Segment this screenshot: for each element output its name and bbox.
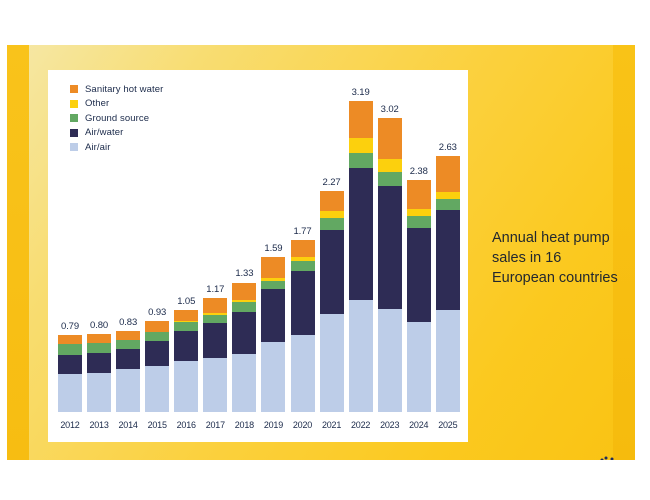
bar-segment[interactable] — [145, 321, 169, 332]
screenshot-root: Sanitary hot waterOtherGround sourceAir/… — [0, 0, 650, 500]
x-axis-tick-label: 2021 — [320, 420, 344, 430]
bar-stack — [232, 282, 256, 412]
x-axis-tick-label: 2022 — [349, 420, 373, 430]
bar-segment[interactable] — [378, 186, 402, 309]
bar-value-label: 1.17 — [206, 284, 224, 295]
bar-segment[interactable] — [203, 298, 227, 313]
bar-segment[interactable] — [320, 218, 344, 230]
bar-value-label: 0.93 — [148, 307, 166, 318]
bar-segment[interactable] — [87, 334, 111, 343]
bar-column[interactable]: 3.19 — [349, 76, 373, 412]
x-axis-tick-labels: 2012201320142015201620172018201920202021… — [58, 416, 460, 434]
bar-column[interactable]: 0.83 — [116, 76, 140, 412]
bar-value-label: 2.38 — [410, 166, 428, 177]
bar-segment[interactable] — [407, 322, 431, 412]
bar-stack — [261, 257, 285, 412]
bar-segment[interactable] — [320, 191, 344, 211]
bar-segment[interactable] — [87, 373, 111, 412]
bar-segment[interactable] — [58, 344, 82, 355]
bar-segment[interactable] — [436, 310, 460, 412]
bar-segment[interactable] — [145, 366, 169, 412]
bar-column[interactable]: 1.77 — [291, 76, 315, 412]
bar-column[interactable]: 0.80 — [87, 76, 111, 412]
bar-stack — [291, 240, 315, 412]
bar-segment[interactable] — [261, 289, 285, 342]
bar-segment[interactable] — [145, 332, 169, 341]
slide-left-edge — [7, 45, 29, 460]
bar-segment[interactable] — [436, 199, 460, 211]
bar-segment[interactable] — [320, 314, 344, 412]
bar-segment[interactable] — [261, 342, 285, 412]
bar-segment[interactable] — [174, 322, 198, 331]
bar-column[interactable]: 2.63 — [436, 76, 460, 412]
bar-stack — [87, 334, 111, 412]
bar-value-label: 1.33 — [235, 268, 253, 279]
bar-segment[interactable] — [58, 335, 82, 344]
bar-segment[interactable] — [116, 331, 140, 340]
bar-segment[interactable] — [58, 355, 82, 374]
bar-segment[interactable] — [436, 156, 460, 192]
x-axis-tick-label: 2018 — [232, 420, 256, 430]
chart-panel: Sanitary hot waterOtherGround sourceAir/… — [48, 70, 468, 442]
x-axis-tick-label: 2025 — [436, 420, 460, 430]
bar-column[interactable]: 1.17 — [203, 76, 227, 412]
bar-segment[interactable] — [116, 349, 140, 369]
bar-column[interactable]: 0.93 — [145, 76, 169, 412]
x-axis-tick-label: 2024 — [407, 420, 431, 430]
bar-segment[interactable] — [378, 159, 402, 173]
bar-stack — [203, 298, 227, 412]
x-axis-tick-label: 2016 — [174, 420, 198, 430]
bar-segment[interactable] — [232, 283, 256, 301]
bar-value-label: 3.19 — [352, 87, 370, 98]
x-axis-tick-label: 2023 — [378, 420, 402, 430]
bar-segment[interactable] — [174, 310, 198, 322]
bar-segment[interactable] — [145, 341, 169, 366]
bar-segment[interactable] — [378, 118, 402, 159]
x-axis-tick-label: 2020 — [291, 420, 315, 430]
bar-segment[interactable] — [407, 209, 431, 216]
bar-segment[interactable] — [320, 211, 344, 218]
x-axis-tick-label: 2013 — [87, 420, 111, 430]
bar-segment[interactable] — [407, 180, 431, 209]
bar-segment[interactable] — [378, 309, 402, 412]
bar-stack — [58, 335, 82, 412]
bar-segment[interactable] — [261, 257, 285, 277]
bar-segment[interactable] — [378, 172, 402, 186]
bar-segment[interactable] — [203, 315, 227, 324]
bar-segment[interactable] — [349, 300, 373, 412]
bar-segment[interactable] — [203, 358, 227, 412]
bar-segment[interactable] — [291, 271, 315, 335]
bar-segment[interactable] — [291, 261, 315, 271]
bar-stack — [436, 156, 460, 412]
x-axis-tick-label: 2015 — [145, 420, 169, 430]
bar-segment[interactable] — [87, 343, 111, 353]
bar-segment[interactable] — [349, 153, 373, 168]
bar-column[interactable]: 2.38 — [407, 76, 431, 412]
chart-plot-area: 0.790.800.830.931.051.171.331.591.772.27… — [58, 76, 460, 412]
bar-stack — [407, 180, 431, 412]
bar-segment[interactable] — [291, 335, 315, 412]
bar-stack — [378, 118, 402, 412]
bar-segment[interactable] — [436, 192, 460, 199]
bar-segment[interactable] — [232, 312, 256, 354]
bar-value-label: 0.79 — [61, 321, 79, 332]
bar-segment[interactable] — [174, 361, 198, 412]
bar-column[interactable]: 2.27 — [320, 76, 344, 412]
bar-value-label: 1.59 — [264, 243, 282, 254]
bar-segment[interactable] — [203, 323, 227, 358]
x-axis-tick-label: 2017 — [203, 420, 227, 430]
x-axis-tick-label: 2019 — [261, 420, 285, 430]
bar-stack — [349, 101, 373, 412]
bar-segment[interactable] — [291, 240, 315, 258]
bar-stack — [145, 321, 169, 412]
bar-stack — [320, 191, 344, 412]
bar-segment[interactable] — [261, 281, 285, 290]
bar-column[interactable]: 1.05 — [174, 76, 198, 412]
bar-column[interactable]: 3.02 — [378, 76, 402, 412]
bar-value-label: 3.02 — [381, 104, 399, 115]
x-axis-tick-label: 2014 — [116, 420, 140, 430]
ehpa-logo-svg: ehpa — [506, 452, 626, 460]
bar-segment[interactable] — [116, 369, 140, 412]
bar-segment[interactable] — [58, 374, 82, 412]
bar-stack — [174, 310, 198, 412]
bar-stack — [116, 331, 140, 412]
bar-segment[interactable] — [232, 302, 256, 312]
bar-segment[interactable] — [232, 354, 256, 412]
bar-value-label: 1.05 — [177, 296, 195, 307]
bar-segment[interactable] — [116, 340, 140, 349]
bar-segment[interactable] — [407, 216, 431, 228]
bar-value-label: 1.77 — [293, 226, 311, 237]
bar-column[interactable]: 1.59 — [261, 76, 285, 412]
bar-segment[interactable] — [407, 228, 431, 322]
bar-value-label: 2.63 — [439, 142, 457, 153]
ehpa-logo: ehpa — [506, 452, 626, 460]
ehpa-wordmark: ehpa — [532, 456, 605, 460]
bar-value-label: 2.27 — [323, 177, 341, 188]
bar-segment[interactable] — [320, 230, 344, 314]
bar-segment[interactable] — [349, 101, 373, 138]
bar-segment[interactable] — [436, 210, 460, 309]
bar-segment[interactable] — [349, 138, 373, 153]
bar-column[interactable]: 0.79 — [58, 76, 82, 412]
presentation-slide: Sanitary hot waterOtherGround sourceAir/… — [7, 45, 635, 460]
slide-headline: Annual heat pump sales in 16 European co… — [492, 228, 622, 288]
x-axis-tick-label: 2012 — [58, 420, 82, 430]
bar-value-label: 0.80 — [90, 320, 108, 331]
bar-group: 0.790.800.830.931.051.171.331.591.772.27… — [58, 76, 460, 412]
bar-segment[interactable] — [349, 168, 373, 300]
bar-segment[interactable] — [87, 353, 111, 373]
bar-segment[interactable] — [174, 331, 198, 361]
bar-value-label: 0.83 — [119, 317, 137, 328]
bar-column[interactable]: 1.33 — [232, 76, 256, 412]
